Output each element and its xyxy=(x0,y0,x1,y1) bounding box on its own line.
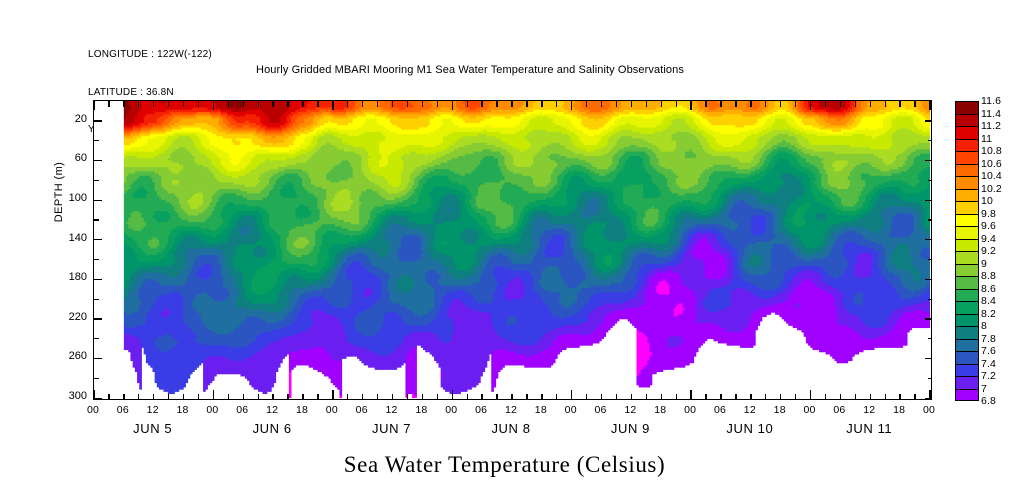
colorbar-band xyxy=(955,389,979,402)
x-axis-tick xyxy=(870,101,871,107)
x-day-label: JUN 5 xyxy=(98,421,208,436)
x-hour-label: 06 xyxy=(589,404,613,416)
x-axis-tick xyxy=(631,101,632,107)
x-axis-tick xyxy=(243,101,244,107)
x-axis-tick xyxy=(631,394,632,400)
x-hour-label: 06 xyxy=(230,404,254,416)
colorbar-tick-label: 8.6 xyxy=(981,283,996,295)
y-tick-label: 100 xyxy=(41,192,87,204)
x-axis-tick xyxy=(258,101,259,107)
colorbar-band xyxy=(955,201,979,214)
x-hour-label: 00 xyxy=(917,404,941,416)
y-tick-label: 180 xyxy=(41,271,87,283)
x-axis-tick xyxy=(228,394,229,400)
colorbar-band xyxy=(955,289,979,302)
x-axis-tick xyxy=(496,101,497,107)
chart-title: Hourly Gridded MBARI Mooring M1 Sea Wate… xyxy=(0,64,940,76)
x-axis-tick xyxy=(347,394,348,400)
x-hour-label: 00 xyxy=(200,404,224,416)
colorbar-band xyxy=(955,139,979,152)
x-axis-tick xyxy=(258,394,259,400)
y-tick-label: 20 xyxy=(41,113,87,125)
colorbar-tick-label: 7 xyxy=(981,383,987,395)
longitude-text: LONGITUDE : 122W(-122) xyxy=(88,49,212,62)
colorbar-band xyxy=(955,339,979,352)
x-axis-tick xyxy=(705,394,706,400)
x-axis-tick xyxy=(138,101,139,107)
x-axis-tick xyxy=(526,101,527,107)
x-axis-tick xyxy=(392,101,393,107)
temperature-field xyxy=(94,101,930,398)
x-hour-label: 18 xyxy=(409,404,433,416)
colorbar-tick-labels: 11.611.411.21110.810.610.410.2109.89.69.… xyxy=(981,101,1009,411)
x-axis-tick xyxy=(840,101,841,107)
x-axis-tick xyxy=(840,394,841,400)
colorbar-band xyxy=(955,226,979,239)
x-hour-label: 18 xyxy=(887,404,911,416)
colorbar-tick-label: 10 xyxy=(981,195,993,207)
x-axis-tick xyxy=(213,390,214,399)
x-axis-tick xyxy=(795,394,796,400)
x-axis-tick xyxy=(272,101,273,107)
colorbar-tick-label: 8 xyxy=(981,320,987,332)
x-axis-tick xyxy=(287,394,288,400)
contour-plot-area xyxy=(93,100,932,400)
x-axis-tick xyxy=(780,394,781,400)
x-axis-tick xyxy=(317,394,318,400)
x-axis-tick xyxy=(347,101,348,107)
x-axis-title: Sea Water Temperature (Celsius) xyxy=(0,452,1009,478)
x-axis-tick xyxy=(407,101,408,107)
x-axis-tick xyxy=(541,394,542,400)
colorbar-tick-label: 10.6 xyxy=(981,158,1002,170)
x-axis-tick xyxy=(332,101,333,110)
y-tick-label: 60 xyxy=(41,152,87,164)
x-axis-tick xyxy=(407,394,408,400)
x-axis-tick xyxy=(765,394,766,400)
x-day-label: JUN 10 xyxy=(695,421,805,436)
colorbar-band xyxy=(955,314,979,327)
x-axis-tick xyxy=(646,394,647,400)
x-axis-tick xyxy=(885,101,886,107)
x-axis-tick xyxy=(123,394,124,400)
colorbar-band xyxy=(955,176,979,189)
x-axis-tick xyxy=(750,394,751,400)
colorbar-tick-label: 8.4 xyxy=(981,295,996,307)
x-axis-tick xyxy=(825,394,826,400)
colorbar-tick-label: 9.4 xyxy=(981,233,996,245)
x-axis-tick xyxy=(228,101,229,107)
y-tick-label: 140 xyxy=(41,232,87,244)
x-axis-tick xyxy=(138,394,139,400)
x-axis-tick xyxy=(914,101,915,107)
colorbar-tick-label: 11 xyxy=(981,133,992,145)
colorbar-band xyxy=(955,126,979,139)
x-axis-tick xyxy=(616,101,617,107)
x-axis-tick xyxy=(601,101,602,107)
x-hour-label: 18 xyxy=(529,404,553,416)
x-axis-tick xyxy=(168,394,169,400)
x-hour-label: 12 xyxy=(380,404,404,416)
colorbar-band xyxy=(955,114,979,127)
x-axis-tick xyxy=(108,394,109,400)
x-axis-tick xyxy=(541,101,542,107)
colorbar-band xyxy=(955,276,979,289)
x-hour-label: 00 xyxy=(798,404,822,416)
plot-canvas: LONGITUDE : 122W(-122) LATITUDE : 36.8N … xyxy=(0,0,1009,504)
x-hour-label: 06 xyxy=(827,404,851,416)
x-axis-tick xyxy=(586,394,587,400)
colorbar-band xyxy=(955,351,979,364)
x-axis-tick xyxy=(243,394,244,400)
x-day-label: JUN 9 xyxy=(575,421,685,436)
x-axis-day-labels: JUN 5JUN 6JUN 7JUN 8JUN 9JUN 10JUN 11 xyxy=(93,421,932,439)
x-axis-tick xyxy=(690,101,691,110)
x-axis-tick xyxy=(467,394,468,400)
x-axis-tick xyxy=(676,101,677,107)
colorbar-band xyxy=(955,214,979,227)
x-axis-tick xyxy=(437,101,438,107)
colorbar-band xyxy=(955,301,979,314)
x-axis-tick xyxy=(93,101,94,110)
colorbar-band xyxy=(955,189,979,202)
x-axis-tick xyxy=(661,101,662,107)
colorbar-band xyxy=(955,326,979,339)
x-axis-tick xyxy=(153,394,154,400)
x-axis-tick xyxy=(93,390,94,399)
colorbar-tick-label: 7.2 xyxy=(981,370,996,382)
x-axis-hour-labels: 0006121800061218000612180006121800061218… xyxy=(93,404,932,418)
x-axis-tick xyxy=(317,101,318,107)
x-axis-tick xyxy=(870,394,871,400)
x-axis-tick xyxy=(765,101,766,107)
x-axis-tick xyxy=(556,394,557,400)
x-day-label: JUN 7 xyxy=(337,421,447,436)
y-tick-label: 300 xyxy=(41,390,87,402)
x-axis-tick xyxy=(511,101,512,107)
x-axis-tick xyxy=(914,394,915,400)
x-hour-label: 18 xyxy=(768,404,792,416)
x-axis-tick xyxy=(616,394,617,400)
x-hour-label: 12 xyxy=(141,404,165,416)
x-axis-tick xyxy=(377,394,378,400)
x-axis-tick xyxy=(661,394,662,400)
x-axis-tick xyxy=(422,101,423,107)
x-axis-tick xyxy=(168,101,169,107)
x-axis-tick xyxy=(899,394,900,400)
x-day-label: JUN 6 xyxy=(217,421,327,436)
x-axis-tick xyxy=(467,101,468,107)
x-axis-tick xyxy=(437,394,438,400)
x-axis-tick xyxy=(855,394,856,400)
x-hour-label: 12 xyxy=(618,404,642,416)
colorbar-tick-label: 6.8 xyxy=(981,395,996,407)
colorbar-band xyxy=(955,239,979,252)
colorbar-tick-label: 7.8 xyxy=(981,333,996,345)
colorbar-band xyxy=(955,364,979,377)
x-axis-tick xyxy=(929,101,930,110)
x-hour-label: 00 xyxy=(439,404,463,416)
x-hour-label: 00 xyxy=(678,404,702,416)
x-hour-label: 12 xyxy=(738,404,762,416)
x-axis-tick xyxy=(586,101,587,107)
x-axis-tick xyxy=(496,394,497,400)
x-axis-tick xyxy=(885,394,886,400)
x-axis-tick xyxy=(720,101,721,107)
x-axis-tick xyxy=(735,101,736,107)
x-axis-tick xyxy=(735,394,736,400)
x-axis-tick xyxy=(213,101,214,110)
x-hour-label: 06 xyxy=(469,404,493,416)
x-hour-label: 06 xyxy=(111,404,135,416)
x-hour-label: 18 xyxy=(290,404,314,416)
x-axis-tick xyxy=(556,101,557,107)
colorbar-band xyxy=(955,264,979,277)
x-axis-tick xyxy=(511,394,512,400)
colorbar-tick-label: 10.2 xyxy=(981,183,1002,195)
colorbar-tick-label: 9.6 xyxy=(981,220,996,232)
x-hour-label: 12 xyxy=(857,404,881,416)
x-axis-tick xyxy=(855,101,856,107)
x-axis-tick xyxy=(810,390,811,399)
x-hour-label: 06 xyxy=(350,404,374,416)
colorbar-tick-label: 9 xyxy=(981,258,987,270)
colorbar-tick-label: 8.8 xyxy=(981,270,996,282)
x-axis-tick xyxy=(690,390,691,399)
x-axis-tick xyxy=(676,394,677,400)
x-axis-tick xyxy=(452,101,453,110)
x-day-label: JUN 8 xyxy=(456,421,566,436)
y-tick-label: 260 xyxy=(41,350,87,362)
x-axis-tick xyxy=(332,390,333,399)
x-axis-tick xyxy=(362,394,363,400)
x-axis-tick xyxy=(392,394,393,400)
colorbar-tick-label: 11.2 xyxy=(981,120,1001,132)
x-axis-tick xyxy=(198,394,199,400)
x-axis-tick xyxy=(571,390,572,399)
x-axis-tick xyxy=(108,101,109,107)
colorbar-tick-label: 7.4 xyxy=(981,358,996,370)
x-axis-tick xyxy=(720,394,721,400)
x-axis-tick xyxy=(571,101,572,110)
x-axis-tick xyxy=(183,101,184,107)
x-axis-tick xyxy=(780,101,781,107)
x-axis-tick xyxy=(302,101,303,107)
x-axis-tick xyxy=(377,101,378,107)
colorbar-tick-label: 10.8 xyxy=(981,145,1002,157)
colorbar-tick-label: 11.4 xyxy=(981,108,1001,120)
latitude-text: LATITUDE : 36.8N xyxy=(88,87,212,100)
x-axis-tick xyxy=(750,101,751,107)
x-axis-tick xyxy=(452,390,453,399)
x-hour-label: 12 xyxy=(260,404,284,416)
colorbar-band xyxy=(955,164,979,177)
x-axis-tick xyxy=(795,101,796,107)
x-day-label: JUN 11 xyxy=(814,421,924,436)
colorbar-band xyxy=(955,376,979,389)
x-axis-tick xyxy=(825,101,826,107)
x-axis-tick xyxy=(183,394,184,400)
x-axis-tick xyxy=(123,101,124,107)
x-axis-tick xyxy=(929,390,930,399)
x-axis-tick xyxy=(526,394,527,400)
colorbar-tick-label: 7.6 xyxy=(981,345,996,357)
x-hour-label: 00 xyxy=(81,404,105,416)
x-hour-label: 06 xyxy=(708,404,732,416)
colorbar-tick-label: 10.4 xyxy=(981,170,1002,182)
x-axis-tick xyxy=(646,101,647,107)
x-axis-tick xyxy=(302,394,303,400)
x-hour-label: 00 xyxy=(559,404,583,416)
x-axis-tick xyxy=(153,101,154,107)
x-axis-tick xyxy=(481,394,482,400)
x-axis-tick xyxy=(705,101,706,107)
colorbar-tick-label: 11.6 xyxy=(981,95,1001,107)
colorbar-band xyxy=(955,101,979,114)
x-axis-tick xyxy=(422,394,423,400)
colorbar-tick-label: 9.8 xyxy=(981,208,996,220)
x-hour-label: 00 xyxy=(320,404,344,416)
x-axis-tick xyxy=(198,101,199,107)
x-hour-label: 12 xyxy=(499,404,523,416)
colorbar xyxy=(955,101,979,401)
x-axis-tick xyxy=(272,394,273,400)
y-axis-tick-labels: 2060100140180220260300 xyxy=(39,100,87,400)
x-axis-tick xyxy=(899,101,900,107)
x-axis-tick xyxy=(810,101,811,110)
colorbar-tick-label: 8.2 xyxy=(981,308,996,320)
x-axis-tick xyxy=(287,101,288,107)
colorbar-band xyxy=(955,251,979,264)
x-hour-label: 18 xyxy=(171,404,195,416)
y-tick-label: 220 xyxy=(41,311,87,323)
x-axis-tick xyxy=(481,101,482,107)
colorbar-band xyxy=(955,151,979,164)
colorbar-tick-label: 9.2 xyxy=(981,245,996,257)
x-hour-label: 18 xyxy=(648,404,672,416)
x-axis-tick xyxy=(362,101,363,107)
x-axis-tick xyxy=(601,394,602,400)
